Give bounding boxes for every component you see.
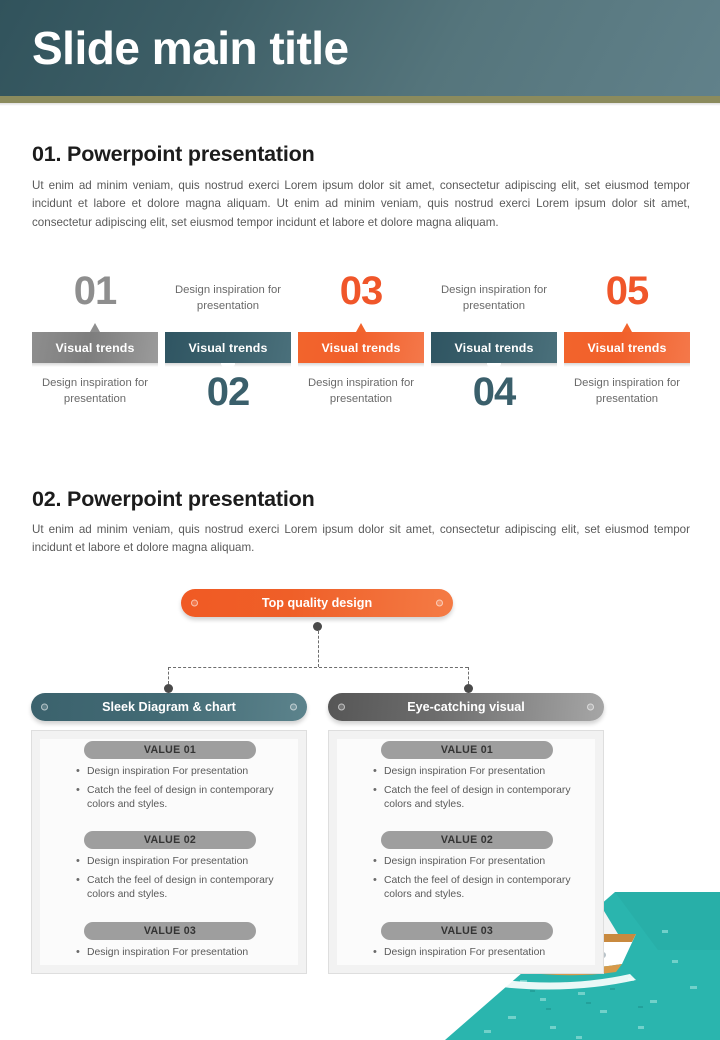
value-bullet-list: Design inspiration For presentation — [373, 946, 601, 965]
connector-line-horizontal — [168, 667, 468, 668]
pill-left-dot-icon — [41, 704, 48, 711]
pill-right-dot-icon — [587, 704, 594, 711]
connector-line-root-vertical — [318, 631, 319, 667]
timeline-bar-04[interactable]: Visual trends — [431, 332, 557, 363]
child-node-pill-2[interactable]: Eye-catching visual — [328, 693, 604, 721]
root-node-pill-label: Top quality design — [262, 596, 372, 610]
content-box-1: VALUE 01Design inspiration For presentat… — [31, 730, 307, 974]
list-item: Design inspiration For presentation — [373, 855, 601, 870]
value-pill-value-02[interactable]: VALUE 02 — [84, 831, 256, 849]
timeline-step-number: 04 — [431, 369, 557, 415]
list-item: Catch the feel of design in contemporary… — [76, 784, 304, 813]
list-item: Design inspiration For presentation — [373, 765, 601, 780]
timeline-bar-01[interactable]: Visual trends — [32, 332, 158, 363]
list-item: Catch the feel of design in contemporary… — [76, 874, 304, 903]
timeline-step-03: 03Design inspiration for presentationVis… — [298, 266, 424, 421]
child-node-pill-2-label: Eye-catching visual — [407, 700, 525, 714]
tree-diagram: Top quality designSleek Diagram & chartV… — [0, 580, 720, 990]
value-bullet-list: Design inspiration For presentationCatch… — [76, 765, 304, 817]
value-bullet-list: Design inspiration For presentationCatch… — [373, 765, 601, 817]
section-2-body: Ut enim ad minim veniam, quis nostrud ex… — [32, 521, 690, 558]
section-1-body: Ut enim ad minim veniam, quis nostrud ex… — [32, 177, 690, 232]
root-node-pill[interactable]: Top quality design — [181, 589, 453, 617]
timeline-bar-02[interactable]: Visual trends — [165, 332, 291, 363]
timeline-step-number: 03 — [298, 268, 424, 314]
value-pill-value-03[interactable]: VALUE 03 — [381, 922, 553, 940]
pill-left-dot-icon — [191, 600, 198, 607]
timeline-step-05: 05Design inspiration for presentationVis… — [564, 266, 690, 421]
child-node-pill-1-label: Sleek Diagram & chart — [102, 700, 236, 714]
section-2-title: 02. Powerpoint presentation — [32, 487, 315, 512]
pill-right-dot-icon — [290, 704, 297, 711]
timeline-bar-shadow — [564, 363, 690, 367]
list-item: Design inspiration For presentation — [76, 855, 304, 870]
list-item: Design inspiration For presentation — [373, 946, 601, 961]
list-item: Catch the feel of design in contemporary… — [373, 874, 601, 903]
timeline-step-caption: Design inspiration for presentation — [427, 283, 561, 314]
connector-line-left-vertical — [168, 667, 169, 684]
slide-header: Slide main title — [0, 0, 720, 96]
pill-right-dot-icon — [436, 600, 443, 607]
value-bullet-list: Design inspiration For presentation — [76, 946, 304, 965]
timeline-up-arrow-icon — [622, 323, 632, 332]
value-pill-value-01[interactable]: VALUE 01 — [381, 741, 553, 759]
section-1-title: 01. Powerpoint presentation — [32, 142, 315, 167]
connector-dot-right — [464, 684, 473, 693]
child-node-pill-1[interactable]: Sleek Diagram & chart — [31, 693, 307, 721]
value-bullet-list: Design inspiration For presentationCatch… — [373, 855, 601, 907]
header-accent-rule — [0, 96, 720, 103]
header-rule-shadow — [0, 103, 720, 106]
list-item: Design inspiration For presentation — [76, 765, 304, 780]
timeline-step-02: 02Design inspiration for presentationVis… — [165, 266, 291, 421]
timeline-step-04: 04Design inspiration for presentationVis… — [431, 266, 557, 421]
timeline-step-caption: Design inspiration for presentation — [161, 283, 295, 314]
value-pill-value-02[interactable]: VALUE 02 — [381, 831, 553, 849]
page-title: Slide main title — [32, 20, 349, 76]
timeline-bar-05[interactable]: Visual trends — [564, 332, 690, 363]
pill-left-dot-icon — [338, 704, 345, 711]
timeline-bar-shadow — [32, 363, 158, 367]
timeline-step-caption: Design inspiration for presentation — [294, 376, 428, 407]
timeline-bar-03[interactable]: Visual trends — [298, 332, 424, 363]
timeline-bar-shadow — [298, 363, 424, 367]
timeline-step-01: 01Design inspiration for presentationVis… — [32, 266, 158, 421]
connector-dot-left — [164, 684, 173, 693]
timeline-step-caption: Design inspiration for presentation — [28, 376, 162, 407]
timeline-step-number: 01 — [32, 268, 158, 314]
value-pill-value-03[interactable]: VALUE 03 — [84, 922, 256, 940]
timeline-step-number: 05 — [564, 268, 690, 314]
timeline-diagram: 01Design inspiration for presentationVis… — [32, 266, 690, 421]
value-bullet-list: Design inspiration For presentationCatch… — [76, 855, 304, 907]
connector-dot-root — [313, 622, 322, 631]
list-item: Design inspiration For presentation — [76, 946, 304, 961]
content-box-2: VALUE 01Design inspiration For presentat… — [328, 730, 604, 974]
value-pill-value-01[interactable]: VALUE 01 — [84, 741, 256, 759]
connector-line-right-vertical — [468, 667, 469, 684]
timeline-step-number: 02 — [165, 369, 291, 415]
timeline-up-arrow-icon — [90, 323, 100, 332]
timeline-up-arrow-icon — [356, 323, 366, 332]
list-item: Catch the feel of design in contemporary… — [373, 784, 601, 813]
slide: Slide main title 01. Powerpoint presenta… — [0, 0, 720, 1040]
timeline-step-caption: Design inspiration for presentation — [560, 376, 694, 407]
